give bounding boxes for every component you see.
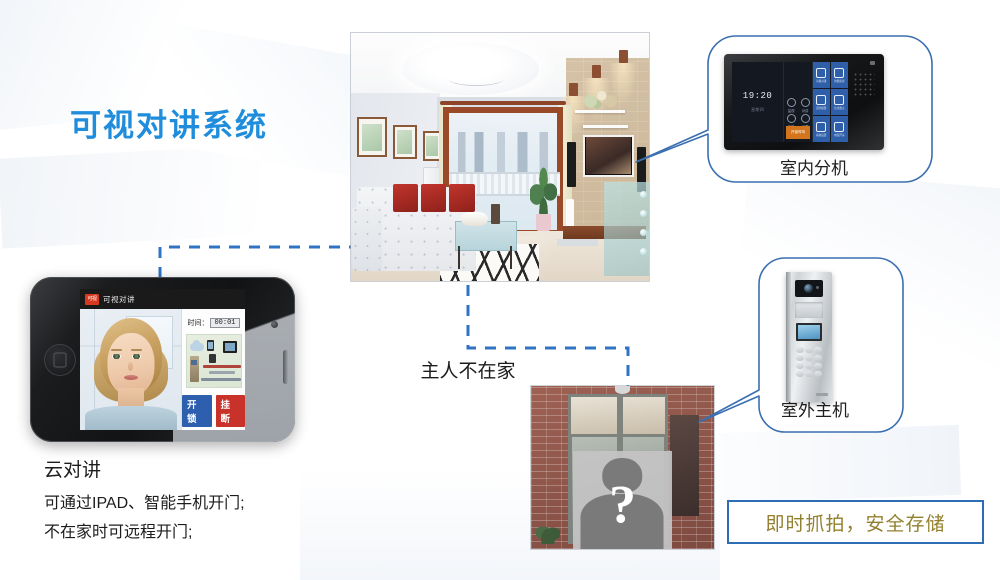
brand-logo	[816, 393, 828, 396]
cloud-icon	[190, 343, 204, 351]
lcd-display	[796, 323, 822, 341]
tablet-icon	[223, 341, 237, 353]
monitor-screen: 19:20 星期四 监视 对讲 布防 设置 开锁呼叫 可视对讲 智能家居 安防报…	[732, 62, 848, 142]
smartphone-device: 可视 可视对讲	[30, 277, 295, 442]
intercom-icon	[816, 68, 826, 78]
hangup-button[interactable]: 挂断	[216, 395, 246, 427]
potted-plant	[530, 167, 557, 217]
monitor-tile[interactable]: 电源开关	[831, 116, 848, 142]
home-icon	[834, 68, 844, 78]
gear-icon	[816, 122, 826, 132]
monitor-mini-button[interactable]: 对讲	[799, 98, 811, 113]
coffee-table	[455, 221, 517, 250]
app-title: 可视对讲	[103, 294, 135, 305]
visitor-face	[83, 318, 179, 430]
app-logo-text: 可视	[87, 297, 96, 302]
cloud-intercom-heading: 云对讲	[44, 455, 101, 482]
call-timer: 时间： 00:01	[187, 318, 239, 328]
question-mark: ?	[609, 477, 636, 531]
shield-icon	[816, 95, 826, 105]
door-station-icon	[190, 356, 199, 382]
monitor-tile-grid: 可视对讲 智能家居 安防报警 信息留言 系统设置 电源开关	[813, 62, 848, 142]
capture-storage-text: 即时抓拍，安全存储	[765, 509, 945, 536]
background-wash	[0, 141, 332, 248]
time-value: 00:01	[210, 318, 239, 328]
capture-storage-box: 即时抓拍，安全存储	[727, 500, 984, 544]
app-header: 可视 可视对讲	[80, 289, 245, 309]
glass-cabinet	[604, 182, 649, 276]
indoor-monitor-device: 19:20 星期四 监视 对讲 布防 设置 开锁呼叫 可视对讲 智能家居 安防报…	[724, 54, 884, 150]
cloud-intercom-line-2: 不在家时可远程开门;	[44, 518, 192, 542]
flower-decoration	[577, 88, 622, 110]
monitor-tile[interactable]: 可视对讲	[813, 62, 830, 88]
monitor-tile[interactable]: 智能家居	[831, 62, 848, 88]
time-label: 时间：	[187, 318, 208, 328]
call-controls-panel: 时间： 00:01 开锁 挂断	[181, 309, 245, 430]
owner-away-note: 主人不在家	[420, 358, 516, 386]
card-reader-slot[interactable]	[795, 302, 823, 318]
page-title: 可视对讲系统	[70, 100, 268, 145]
message-icon	[834, 95, 844, 105]
home-button[interactable]	[44, 344, 76, 376]
date-display: 星期四	[751, 107, 764, 113]
monitor-tile[interactable]: 系统设置	[813, 116, 830, 142]
speaker-grille	[853, 72, 875, 98]
phone-icon	[209, 354, 216, 363]
ceiling-lamp	[402, 43, 539, 95]
app-logo-icon: 可视	[85, 294, 99, 305]
camera-module-icon	[795, 280, 823, 297]
cloud-intercom-line-1: 可通过IPAD、智能手机开门;	[44, 489, 245, 513]
monitor-primary-button[interactable]: 开锁呼叫	[786, 126, 810, 139]
outdoor-door-station-device	[786, 272, 832, 402]
monitor-mini-button[interactable]: 监视	[785, 98, 797, 113]
monitor-tile[interactable]: 信息留言	[831, 89, 848, 115]
clock-display: 19:20	[743, 91, 773, 101]
living-room-render	[351, 33, 649, 281]
unlock-button[interactable]: 开锁	[182, 395, 212, 427]
unknown-visitor-overlay: ?	[573, 451, 672, 549]
keypad[interactable]	[796, 347, 822, 377]
door-camera-icon	[615, 386, 630, 394]
video-feed[interactable]	[80, 309, 181, 430]
sleep-button[interactable]	[283, 350, 288, 384]
front-camera-icon	[271, 321, 278, 328]
monitor-tile[interactable]: 安防报警	[813, 89, 830, 115]
status-led-icon	[870, 61, 875, 65]
home-square-icon	[54, 352, 67, 367]
callout-indoor-label: 室内分机	[780, 154, 848, 179]
building-entrance-photo: ?	[531, 386, 714, 549]
phone-screen: 可视 可视对讲	[80, 289, 245, 430]
phone-icon	[207, 340, 214, 351]
power-icon	[834, 122, 844, 132]
system-diagram-thumbnail	[186, 334, 242, 388]
